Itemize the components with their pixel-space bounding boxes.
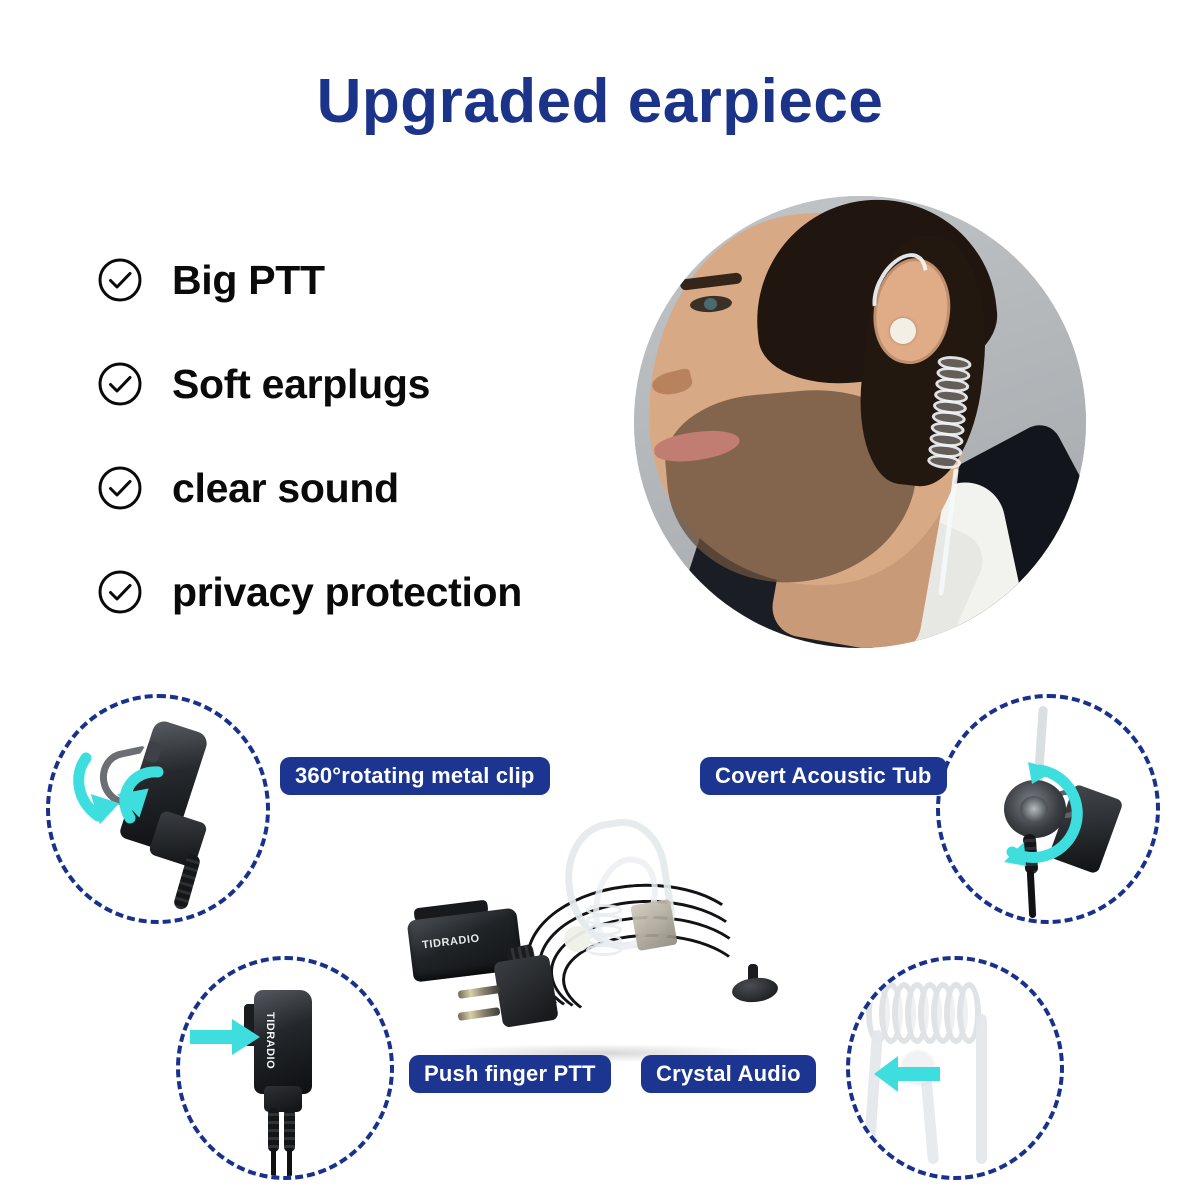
ptt-cable (271, 1148, 276, 1176)
straight-left-arrow (872, 1054, 942, 1094)
circular-rotation-arrow (982, 756, 1098, 872)
check-circle-icon (96, 360, 144, 408)
feature-label: Soft earplugs (172, 361, 430, 408)
callout-badge-push-finger-ptt: Push finger PTT (409, 1055, 611, 1093)
feature-item: clear sound (96, 436, 656, 540)
feature-item: Soft earplugs (96, 332, 656, 436)
coiled-acoustic-tube (866, 982, 986, 1048)
product-infographic: Upgraded earpiece Big PTT Soft earplugs (0, 0, 1200, 1200)
tube-cable (1027, 870, 1037, 918)
feature-label: privacy protection (172, 569, 522, 616)
callout-badge-crystal-audio: Crystal Audio (641, 1055, 816, 1093)
straight-right-arrow (188, 1016, 264, 1058)
ptt-cable (287, 1148, 292, 1176)
product-photo: TIDRADIO (398, 818, 790, 1066)
callout-circle-covert-acoustic-tube (936, 694, 1160, 924)
feature-label: Big PTT (172, 257, 325, 304)
feature-label: clear sound (172, 465, 399, 512)
feature-list: Big PTT Soft earplugs clear sound (96, 228, 656, 644)
callout-badge-rotating-metal-clip: 360°rotating metal clip (280, 757, 550, 795)
product-shirt-clip (630, 899, 677, 951)
hero-earbud (890, 318, 916, 344)
feature-item: privacy protection (96, 540, 656, 644)
ptt-brand-logo: TIDRADIO (264, 1012, 276, 1069)
product-earbud (564, 926, 590, 952)
ptt-cable-boot (268, 1108, 279, 1152)
page-title: Upgraded earpiece (0, 66, 1200, 137)
product-coiled-tube (586, 904, 622, 958)
callout-circle-rotating-metal-clip (46, 694, 270, 924)
callout-circle-crystal-audio (846, 956, 1064, 1180)
ptt-cable-boot (284, 1108, 295, 1152)
product-plug-body (493, 954, 559, 1028)
check-circle-icon (96, 256, 144, 304)
curved-rotation-arrow (114, 756, 194, 846)
check-circle-icon (96, 568, 144, 616)
check-circle-icon (96, 464, 144, 512)
feature-item: Big PTT (96, 228, 656, 332)
tube-right-branch (976, 1014, 987, 1164)
product-plug-pin (458, 985, 501, 999)
hero-photo (634, 196, 1086, 648)
product-plug-pin (458, 1007, 501, 1021)
callout-badge-covert-acoustic-tube: Covert Acoustic Tub (700, 757, 947, 795)
callout-circle-push-finger-ptt: TIDRADIO (176, 956, 394, 1180)
